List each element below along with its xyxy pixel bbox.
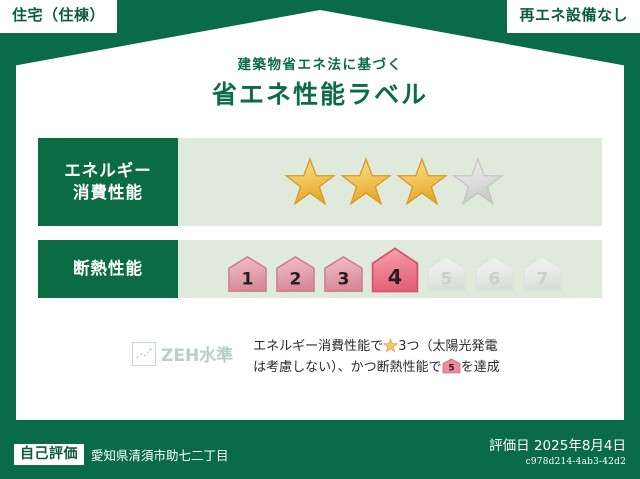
insulation-level-value: 6	[489, 270, 501, 290]
insulation-level-value: 3	[338, 270, 350, 290]
insulation-label-text: 断熱性能	[73, 258, 143, 280]
building-type-tag: 住宅（住棟）	[0, 0, 117, 33]
zeh-description: エネルギー消費性能で 3つ（太陽光発電 は考慮しない）、かつ断熱性能で 5 を達…	[253, 336, 500, 379]
inline-star-icon	[383, 338, 398, 353]
zeh-desc-line2-b: を達成	[461, 360, 500, 375]
energy-consumption-label: エネルギー 消費性能	[38, 138, 178, 226]
zeh-badge-label: ZEH水準	[161, 341, 233, 366]
star-empty-icon	[452, 156, 504, 208]
zeh-badge: ZEH水準	[132, 341, 233, 366]
star-filled-icon	[340, 156, 392, 208]
insulation-level-4-active: 4	[370, 246, 420, 294]
energy-consumption-rating	[178, 138, 602, 226]
zeh-chart-icon	[132, 342, 156, 366]
insulation-level-7: 7	[521, 254, 564, 294]
property-address: 愛知県清須市助七二丁目	[91, 445, 229, 464]
footer-right: 評価日 2025年8月4日 c978d214-4ab3-42d2	[489, 434, 626, 467]
star-rating	[284, 156, 504, 208]
insulation-performance-row: 断熱性能	[38, 240, 602, 298]
label-subtitle: 建築物省エネ法に基づく	[0, 58, 640, 73]
insulation-level-scale: 1 2 3 4 5	[226, 240, 564, 298]
insulation-performance-rating: 1 2 3 4 5	[178, 240, 602, 298]
inline-insulation-badge: 5	[442, 358, 461, 374]
insulation-level-value: 5	[441, 270, 453, 290]
insulation-level-1: 1	[226, 254, 269, 294]
zeh-desc-line1-b: 3つ（太陽光発電	[398, 339, 497, 354]
insulation-level-3: 3	[322, 254, 365, 294]
energy-label-line1: エネルギー	[64, 160, 152, 182]
zeh-desc-line1-a: エネルギー消費性能で	[253, 339, 383, 354]
insulation-level-value: 2	[290, 270, 302, 290]
insulation-level-value: 1	[242, 270, 254, 290]
insulation-level-value: 7	[537, 270, 549, 290]
document-id: c978d214-4ab3-42d2	[489, 457, 626, 467]
footer-left: 自己評価 愛知県清須市助七二丁目	[14, 444, 229, 465]
self-evaluation-badge: 自己評価	[14, 444, 84, 465]
energy-label-line2: 消費性能	[73, 182, 143, 204]
zeh-desc-line2-a: は考慮しない）、かつ断熱性能で	[253, 360, 442, 375]
insulation-level-5: 5	[425, 254, 468, 294]
evaluation-date: 評価日 2025年8月4日	[489, 434, 626, 454]
star-filled-icon	[396, 156, 448, 208]
insulation-performance-label: 断熱性能	[38, 240, 178, 298]
insulation-level-2: 2	[274, 254, 317, 294]
page-title: 省エネ性能ラベル	[0, 81, 640, 109]
insulation-level-6: 6	[473, 254, 516, 294]
energy-consumption-row: エネルギー 消費性能	[38, 138, 602, 226]
insulation-level-value: 4	[388, 265, 402, 289]
star-filled-icon	[284, 156, 336, 208]
zeh-note: ZEH水準 エネルギー消費性能で 3つ（太陽光発電 は考慮しない）、かつ断熱性能…	[132, 336, 500, 379]
title-block: 建築物省エネ法に基づく 省エネ性能ラベル	[0, 58, 640, 108]
inline-badge-value: 5	[448, 364, 454, 374]
renewable-equipment-tag: 再エネ設備なし	[507, 0, 640, 33]
energy-performance-label: 住宅（住棟） 再エネ設備なし 建築物省エネ法に基づく 省エネ性能ラベル エネルギ…	[0, 0, 640, 479]
